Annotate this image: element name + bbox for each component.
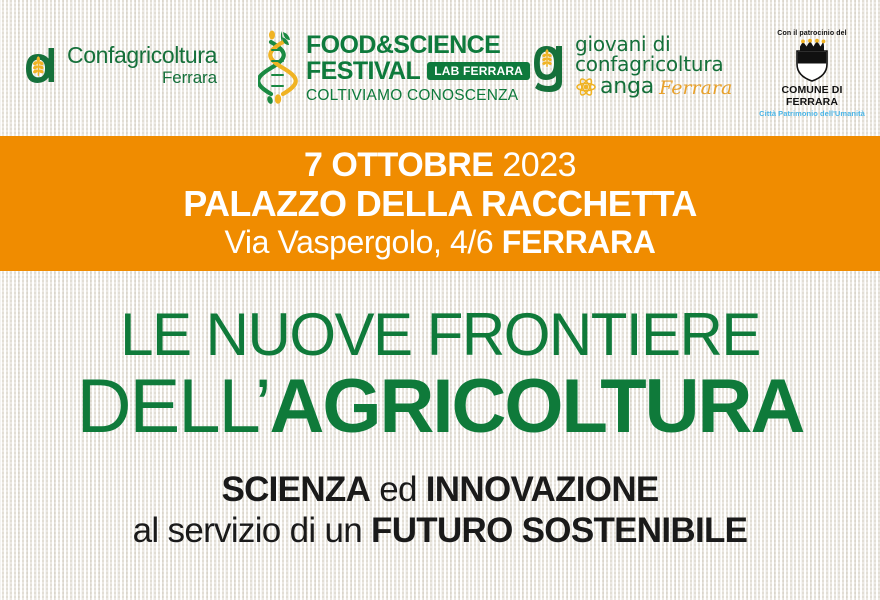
subtitle-futuro-sostenibile: FUTURO SOSTENIBILE [371,511,747,550]
logo-food-science-festival[interactable]: FOOD&SCIENCE FESTIVAL LAB FERRARA COLTIV… [258,28,530,108]
date-venue-banner: 7 OTTOBRE 2023 PALAZZO DELLA RACCHETTA V… [0,136,880,271]
banner-date-day: 7 OTTOBRE [304,146,493,184]
sponsor-logo-strip: Confagricoltura Ferrara [0,0,880,136]
banner-venue: PALAZZO DELLA RACCHETTA [183,184,696,224]
lab-ferrara-badge: LAB FERRARA [427,62,530,80]
confagricoltura-wordmark: Confagricoltura Ferrara [67,44,217,86]
confagricoltura-wheat-icon [24,46,60,84]
banner-address-street: Via Vaspergolo, 4/6 [225,224,494,260]
poster-subtitle: SCIENZA ed INNOVAZIONE al servizio di un… [0,470,880,550]
banner-address-line: Via Vaspergolo, 4/6 FERRARA [225,224,656,261]
subtitle-line1: SCIENZA ed INNOVAZIONE [0,470,880,509]
dna-helix-wheat-icon [258,28,298,108]
subtitle-scienza: SCIENZA [221,470,370,509]
anga-letter-g-wheat-icon [528,38,570,94]
banner-date-year: 2023 [502,146,576,184]
headline-line2-light: DELL’ [77,364,270,449]
poster-headline: LE NUOVE FRONTIERE DELL’AGRICOLTURA [0,305,880,445]
logo-comune-di-ferrara[interactable]: Con il patrocinio del [756,30,868,118]
anga-line1: giovani di [575,34,732,54]
confagricoltura-location: Ferrara [67,69,217,86]
event-poster: Confagricoltura Ferrara [0,0,880,600]
confagricoltura-name: Confagricoltura [67,44,217,67]
anga-location: Ferrara [659,79,732,98]
comune-patronage-label: Con il patrocinio del [756,30,868,37]
headline-line2-bold: AGRICOLTURA [269,364,803,449]
headline-line2: DELL’AGRICOLTURA [0,369,880,445]
banner-address-city: FERRARA [502,224,656,260]
subtitle-ed: ed [379,470,417,509]
logo-anga-giovani-confagricoltura[interactable]: giovani di confagricoltura an [528,34,732,98]
food-science-tagline: COLTIVIAMO CONOSCENZA [306,88,530,104]
food-science-line1: FOOD&SCIENCE [306,33,530,58]
anga-word: anga [600,76,654,98]
anga-wordmark: giovani di confagricoltura an [575,34,732,98]
subtitle-innovazione: INNOVAZIONE [426,470,659,509]
subtitle-line2: al servizio di un FUTURO SOSTENIBILE [0,511,880,550]
comune-name: COMUNE DI FERRARA [756,84,868,108]
comune-unesco-label: Città Patrimonio dell'Umanità [756,109,868,118]
headline-line1: LE NUOVE FRONTIERE [0,305,880,365]
subtitle-al-servizio: al servizio di un [133,511,362,550]
food-science-wordmark: FOOD&SCIENCE FESTIVAL LAB FERRARA COLTIV… [306,33,530,104]
banner-date-line: 7 OTTOBRE 2023 [304,146,576,184]
anga-line2: confagricoltura [575,54,732,74]
ferrara-crest-icon [789,38,835,82]
logo-confagricoltura[interactable]: Confagricoltura Ferrara [24,44,217,86]
anga-atom-flower-icon [575,76,597,98]
food-science-line2: FESTIVAL [306,59,420,84]
